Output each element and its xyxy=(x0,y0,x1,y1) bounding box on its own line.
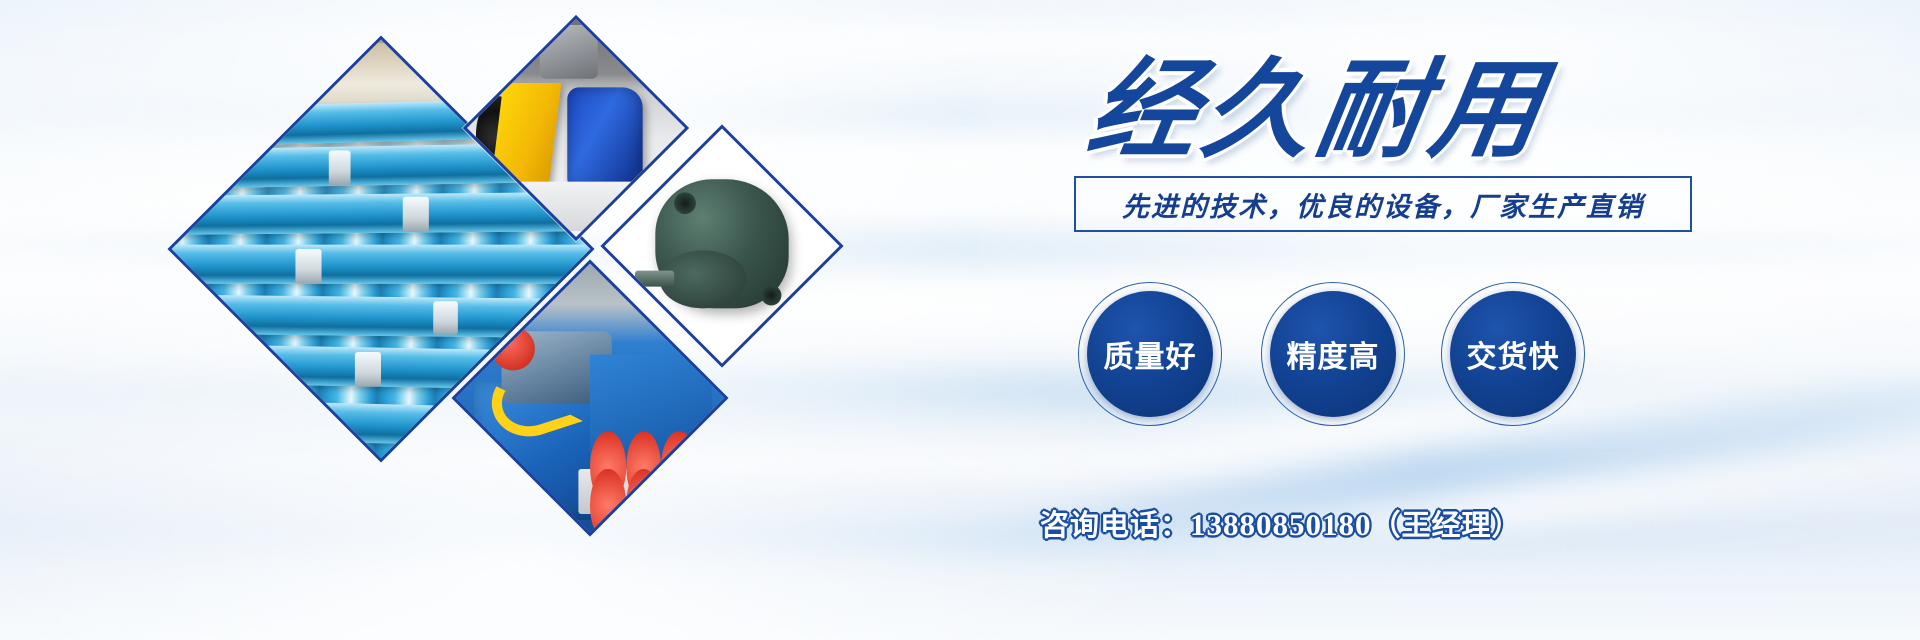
badge-delivery-fill: 交货快 xyxy=(1450,291,1576,417)
badge-quality-fill: 质量好 xyxy=(1087,291,1213,417)
badge-precision-fill: 精度高 xyxy=(1270,291,1396,417)
feature-badges: 质量好 精度高 交货快 xyxy=(1060,282,1580,442)
badge-precision-label: 精度高 xyxy=(1287,332,1380,376)
contact-phone-line: 咨询电话：13880850180（王经理） xyxy=(1040,502,1640,544)
contact-suffix: （王经理） xyxy=(1372,510,1522,542)
banner-content: 经久耐用 先进的技术，优良的设备，厂家生产直销 质量好 精度高 交货快 xyxy=(1060,0,1920,640)
diamond-photo-collage xyxy=(0,0,880,640)
badge-quality[interactable]: 质量好 xyxy=(1078,282,1222,426)
contact-number[interactable]: 13880850180 xyxy=(1190,507,1372,542)
badge-delivery[interactable]: 交货快 xyxy=(1441,282,1585,426)
promotional-banner: 经久耐用 先进的技术，优良的设备，厂家生产直销 质量好 精度高 交货快 xyxy=(0,0,1920,640)
subtitle-box: 先进的技术，优良的设备，厂家生产直销 xyxy=(1074,176,1692,232)
subtitle-text: 先进的技术，优良的设备，厂家生产直销 xyxy=(1122,185,1644,224)
headline: 经久耐用 xyxy=(1081,52,1555,169)
badge-delivery-label: 交货快 xyxy=(1467,332,1560,376)
badge-precision[interactable]: 精度高 xyxy=(1261,282,1405,426)
contact-prefix: 咨询电话： xyxy=(1040,510,1190,542)
badge-quality-label: 质量好 xyxy=(1104,332,1197,376)
